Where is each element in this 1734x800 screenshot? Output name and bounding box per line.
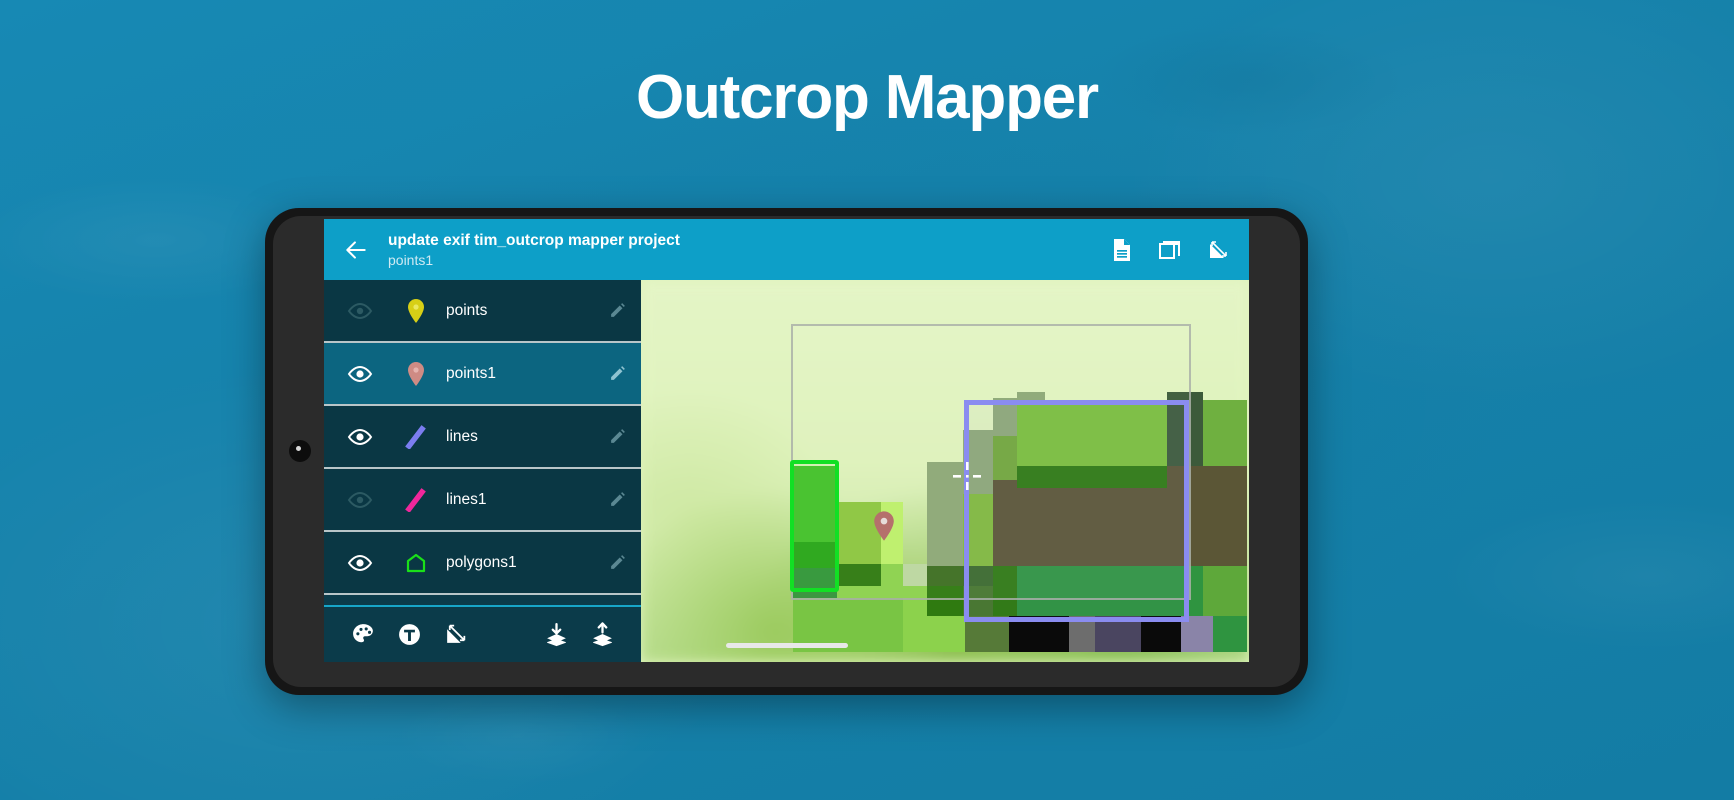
- ruler-icon[interactable]: [432, 613, 478, 657]
- eye-icon: [347, 302, 373, 320]
- edit-layer-points[interactable]: [593, 302, 641, 319]
- app-body: points: [324, 280, 1249, 662]
- text-label-icon[interactable]: [386, 613, 432, 657]
- phone-power-button: [289, 440, 311, 462]
- visibility-toggle-points[interactable]: [324, 302, 396, 320]
- eye-icon: [347, 365, 373, 383]
- crosshair-cursor: [953, 462, 981, 495]
- project-title: update exif tim_outcrop mapper project: [388, 231, 1109, 250]
- layer-row-polygons1[interactable]: polygons1: [324, 532, 641, 595]
- eye-icon: [347, 554, 373, 572]
- layers-upload-icon[interactable]: [579, 613, 625, 657]
- pencil-icon: [609, 365, 626, 382]
- visibility-toggle-lines[interactable]: [324, 428, 396, 446]
- android-gesture-bar[interactable]: [726, 643, 848, 648]
- edit-layer-polygons1[interactable]: [593, 554, 641, 571]
- edit-layer-lines1[interactable]: [593, 491, 641, 508]
- pencil-icon: [609, 302, 626, 319]
- document-icon[interactable]: [1109, 237, 1135, 263]
- app-bar-actions: [1109, 237, 1235, 263]
- phone-screen: update exif tim_outcrop mapper project p…: [324, 219, 1249, 662]
- layer-name-label: lines1: [436, 491, 593, 509]
- green-polygon[interactable]: [790, 460, 839, 592]
- page-title: Outcrop Mapper: [0, 62, 1734, 133]
- phone-device-frame: update exif tim_outcrop mapper project p…: [265, 208, 1308, 695]
- map-canvas[interactable]: [641, 280, 1249, 662]
- symbol-polygon-outline: [396, 552, 436, 574]
- app-bar-titles: update exif tim_outcrop mapper project p…: [388, 231, 1109, 269]
- pencil-icon: [609, 428, 626, 445]
- pencil-icon: [609, 491, 626, 508]
- edit-layer-points1[interactable]: [593, 365, 641, 382]
- layer-row-points1[interactable]: points1: [324, 343, 641, 406]
- layer-name-label: lines: [436, 428, 593, 446]
- symbol-point-pin: [396, 362, 436, 386]
- pencil-icon: [609, 554, 626, 571]
- layer-name-label: points1: [436, 365, 593, 383]
- layers-download-icon[interactable]: [533, 613, 579, 657]
- ruler-icon[interactable]: [1205, 237, 1231, 263]
- arrow-left-icon: [343, 237, 369, 263]
- edit-layer-lines[interactable]: [593, 428, 641, 445]
- symbol-line-slash: [396, 488, 436, 512]
- layer-list: points: [324, 280, 641, 605]
- highlight-rectangle[interactable]: [964, 400, 1189, 622]
- layers-copy-icon[interactable]: [1157, 237, 1183, 263]
- layer-row-lines[interactable]: lines: [324, 406, 641, 469]
- app-bar: update exif tim_outcrop mapper project p…: [324, 219, 1249, 280]
- visibility-toggle-lines1[interactable]: [324, 491, 396, 509]
- layer-row-points[interactable]: points: [324, 280, 641, 343]
- active-layer-subtitle: points1: [388, 251, 1109, 269]
- back-button[interactable]: [334, 228, 378, 272]
- palette-icon[interactable]: [340, 613, 386, 657]
- eye-icon: [347, 428, 373, 446]
- layer-panel: points: [324, 280, 641, 662]
- bottom-toolbar: [324, 605, 641, 662]
- layer-name-label: polygons1: [436, 554, 593, 572]
- symbol-line-slash: [396, 425, 436, 449]
- eye-icon: [347, 491, 373, 509]
- visibility-toggle-points1[interactable]: [324, 365, 396, 383]
- visibility-toggle-polygons1[interactable]: [324, 554, 396, 572]
- layer-row-lines1[interactable]: lines1: [324, 469, 641, 532]
- symbol-point-pin: [396, 299, 436, 323]
- layer-name-label: points: [436, 302, 593, 320]
